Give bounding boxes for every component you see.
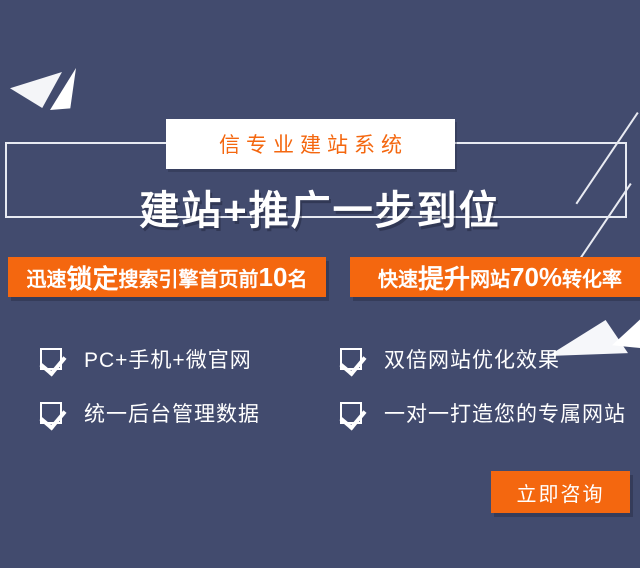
strip-part: 快速	[378, 263, 418, 292]
page-title: 建站+推广一步到位	[0, 178, 640, 236]
strip-part: 转化率	[562, 263, 622, 292]
checkbox-checked-icon	[40, 348, 62, 370]
feature-item-unified-backend: 统一后台管理数据	[40, 386, 340, 440]
plane-wing-small	[50, 68, 76, 110]
consult-now-button[interactable]: 立即咨询	[491, 471, 630, 513]
feature-label: 统一后台管理数据	[84, 398, 260, 428]
strip-part-emphasis: 提升	[418, 259, 470, 296]
paper-plane-top-left-icon	[10, 60, 72, 110]
promo-banner: 信专业建站系统 建站+推广一步到位 迅速锁定搜索引擎首页前10名 快速提升网站7…	[0, 0, 640, 568]
feature-item-one-on-one: 一对一打造您的专属网站	[340, 386, 620, 440]
feature-label: 双倍网站优化效果	[384, 344, 560, 374]
checkbox-checked-icon	[40, 402, 62, 424]
feature-label: 一对一打造您的专属网站	[384, 398, 626, 428]
feature-item-pc-mobile-wechat: PC+手机+微官网	[40, 332, 340, 386]
strip-ranking-promise: 迅速锁定搜索引擎首页前10名	[8, 257, 326, 297]
strip-part-emphasis: 10	[259, 262, 288, 293]
strip-conversion-promise: 快速提升网站70%转化率	[350, 257, 640, 297]
strip-part: 名	[287, 263, 307, 292]
strip-part-emphasis: 70%	[510, 262, 562, 293]
strip-part: 搜索引擎首页前	[119, 263, 259, 292]
strip-part-emphasis: 锁定	[67, 259, 119, 296]
checkbox-checked-icon	[340, 402, 362, 424]
feature-row: PC+手机+微官网 双倍网站优化效果	[40, 332, 620, 386]
feature-row: 统一后台管理数据 一对一打造您的专属网站	[40, 386, 620, 440]
strip-part: 网站	[470, 263, 510, 292]
eyebrow-label: 信专业建站系统	[213, 129, 408, 159]
feature-item-double-optimization: 双倍网站优化效果	[340, 332, 620, 386]
checkbox-checked-icon	[340, 348, 362, 370]
feature-list: PC+手机+微官网 双倍网站优化效果 统一后台管理数据 一对一打造您的专属网站	[40, 332, 620, 440]
feature-label: PC+手机+微官网	[84, 344, 252, 374]
strip-part: 迅速	[27, 263, 67, 292]
eyebrow-badge: 信专业建站系统	[166, 119, 455, 169]
plane-wing-large	[10, 72, 62, 108]
